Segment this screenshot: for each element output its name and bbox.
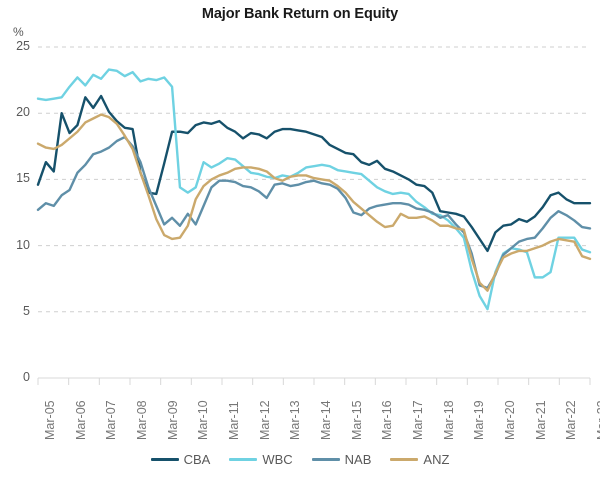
- x-axis-tick-label: Mar-20: [503, 400, 517, 440]
- legend-item-nab[interactable]: NAB: [312, 452, 372, 467]
- y-axis-tick-label: 10: [4, 238, 30, 252]
- x-axis-tick-label: Mar-12: [258, 400, 272, 440]
- legend-item-anz[interactable]: ANZ: [390, 452, 449, 467]
- x-axis-ticks: [38, 378, 590, 385]
- series-line-nab: [38, 137, 590, 288]
- x-axis-tick-label: Mar-07: [104, 400, 118, 440]
- x-axis-tick-label: Mar-06: [74, 400, 88, 440]
- x-axis-tick-label: Mar-22: [564, 400, 578, 440]
- legend-swatch-wbc: [229, 458, 257, 461]
- chart-legend: CBAWBCNABANZ: [0, 452, 600, 467]
- legend-swatch-nab: [312, 458, 340, 461]
- x-axis-tick-label: Mar-18: [442, 400, 456, 440]
- legend-swatch-anz: [390, 458, 418, 461]
- x-axis-tick-label: Mar-17: [411, 400, 425, 440]
- x-axis-tick-label: Mar-09: [166, 400, 180, 440]
- legend-label: ANZ: [423, 452, 449, 467]
- x-axis-tick-label: Mar-21: [534, 400, 548, 440]
- gridlines: [38, 47, 590, 312]
- y-axis-tick-label: 0: [4, 370, 30, 384]
- series-lines: [38, 70, 590, 310]
- legend-label: CBA: [184, 452, 211, 467]
- legend-label: NAB: [345, 452, 372, 467]
- series-line-anz: [38, 115, 590, 291]
- x-axis-tick-label: Mar-10: [196, 400, 210, 440]
- y-axis-tick-label: 20: [4, 105, 30, 119]
- y-axis-tick-label: 5: [4, 304, 30, 318]
- x-axis-tick-label: Mar-13: [288, 400, 302, 440]
- x-axis-tick-label: Mar-11: [227, 401, 241, 440]
- x-axis-tick-label: Mar-14: [319, 400, 333, 440]
- legend-label: WBC: [262, 452, 292, 467]
- series-line-wbc: [38, 70, 590, 310]
- legend-swatch-cba: [151, 458, 179, 461]
- y-axis-tick-label: 25: [4, 39, 30, 53]
- y-axis-tick-label: 15: [4, 171, 30, 185]
- series-line-cba: [38, 96, 590, 251]
- x-axis-tick-label: Mar-08: [135, 400, 149, 440]
- x-axis-tick-label: Mar-16: [380, 400, 394, 440]
- x-axis-tick-label: Mar-19: [472, 400, 486, 440]
- legend-item-cba[interactable]: CBA: [151, 452, 211, 467]
- chart-container: Major Bank Return on Equity % 0510152025…: [0, 0, 600, 483]
- x-axis-tick-label: Mar-23: [595, 400, 600, 440]
- legend-item-wbc[interactable]: WBC: [229, 452, 292, 467]
- x-axis-tick-label: Mar-05: [43, 400, 57, 440]
- x-axis-tick-label: Mar-15: [350, 400, 364, 440]
